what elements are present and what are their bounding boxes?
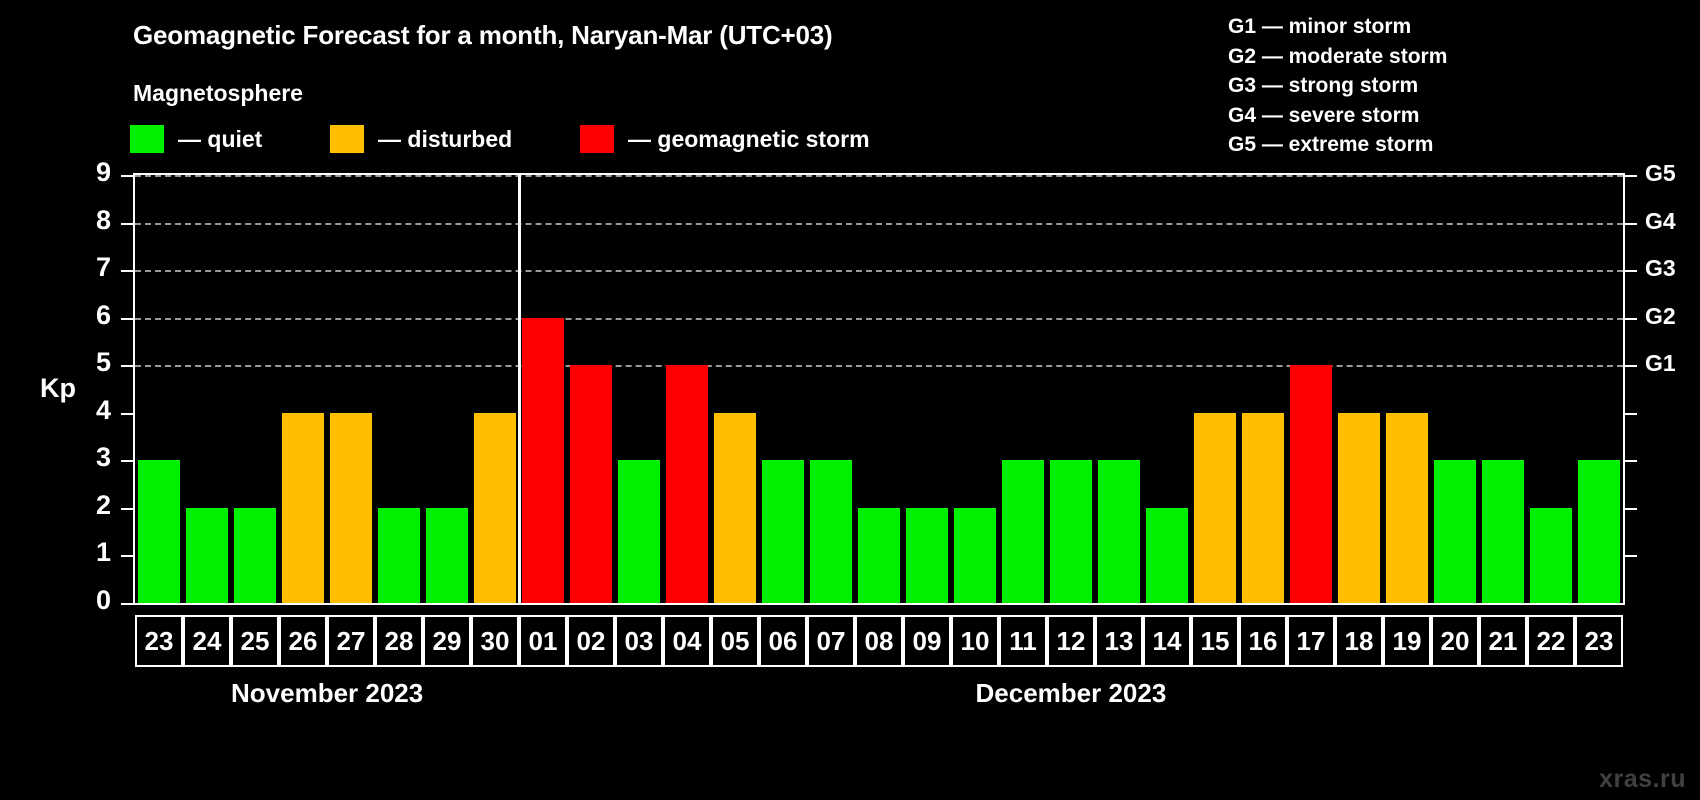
date-label: 13 [1095, 615, 1143, 667]
g-tick-G2 [1625, 318, 1637, 320]
g-tick-G1 [1625, 365, 1637, 367]
legend-label-quiet: — quiet [178, 128, 262, 151]
plot-area [133, 173, 1625, 605]
date-label: 25 [231, 615, 279, 667]
bar [1194, 413, 1235, 603]
g-axis-label-G4: G4 [1645, 208, 1700, 235]
y-tick-4 [121, 413, 133, 415]
bar [186, 508, 227, 603]
bar [378, 508, 419, 603]
legend-swatch-storm [580, 125, 614, 153]
magnetosphere-label: Magnetosphere [133, 80, 303, 107]
gscale-line-1: G1 — minor storm [1228, 12, 1447, 42]
date-label: 28 [375, 615, 423, 667]
date-label: 29 [423, 615, 471, 667]
bar [1146, 508, 1187, 603]
bar [1386, 413, 1427, 603]
date-label: 07 [807, 615, 855, 667]
legend-item-storm: — geomagnetic storm [580, 123, 870, 155]
bar [906, 508, 947, 603]
y-tick-8 [121, 223, 133, 225]
y-axis-tick-label-0: 0 [71, 585, 111, 616]
date-label: 24 [183, 615, 231, 667]
geomagnetic-forecast-chart: Geomagnetic Forecast for a month, Naryan… [0, 0, 1700, 800]
bar [618, 460, 659, 603]
bar [138, 460, 179, 603]
date-label: 11 [999, 615, 1047, 667]
g-minor-tick-kp-1 [1625, 555, 1637, 557]
date-label: 01 [519, 615, 567, 667]
g-axis-label-G1: G1 [1645, 350, 1700, 377]
legend-item-disturbed: — disturbed [330, 123, 512, 155]
date-label: 19 [1383, 615, 1431, 667]
bar [1002, 460, 1043, 603]
date-label: 02 [567, 615, 615, 667]
bar [282, 413, 323, 603]
g-tick-G3 [1625, 270, 1637, 272]
y-axis-tick-label-5: 5 [71, 347, 111, 378]
bar [714, 413, 755, 603]
bar [1242, 413, 1283, 603]
month-caption-1: November 2023 [231, 678, 423, 709]
bar [1482, 460, 1523, 603]
legend-swatch-quiet [130, 125, 164, 153]
bar [1578, 460, 1619, 603]
bar [762, 460, 803, 603]
gscale-line-3: G3 — strong storm [1228, 71, 1447, 101]
date-label: 08 [855, 615, 903, 667]
y-tick-6 [121, 318, 133, 320]
date-label: 16 [1239, 615, 1287, 667]
date-label: 22 [1527, 615, 1575, 667]
date-label: 03 [615, 615, 663, 667]
bar [474, 413, 515, 603]
y-tick-2 [121, 508, 133, 510]
date-label: 15 [1191, 615, 1239, 667]
date-label: 10 [951, 615, 999, 667]
y-axis-tick-label-2: 2 [71, 490, 111, 521]
y-axis-tick-label-4: 4 [71, 395, 111, 426]
bar [1434, 460, 1475, 603]
y-tick-9 [121, 175, 133, 177]
y-tick-1 [121, 555, 133, 557]
gscale-line-5: G5 — extreme storm [1228, 130, 1447, 160]
gscale-legend: G1 — minor stormG2 — moderate stormG3 — … [1228, 12, 1447, 160]
date-label: 05 [711, 615, 759, 667]
date-label: 12 [1047, 615, 1095, 667]
bar [1050, 460, 1091, 603]
bar [1530, 508, 1571, 603]
date-label: 26 [279, 615, 327, 667]
date-label: 20 [1431, 615, 1479, 667]
bars-layer [135, 175, 1623, 603]
bar [810, 460, 851, 603]
date-label: 14 [1143, 615, 1191, 667]
legend-swatch-disturbed [330, 125, 364, 153]
g-axis-label-G5: G5 [1645, 160, 1700, 187]
y-tick-3 [121, 460, 133, 462]
legend-label-storm: — geomagnetic storm [628, 128, 870, 151]
g-minor-tick-kp-4 [1625, 413, 1637, 415]
bar [570, 365, 611, 603]
bar [426, 508, 467, 603]
date-label: 04 [663, 615, 711, 667]
bar [858, 508, 899, 603]
date-label: 06 [759, 615, 807, 667]
bar [954, 508, 995, 603]
bar [1098, 460, 1139, 603]
month-caption-2: December 2023 [976, 678, 1167, 709]
g-axis-label-G3: G3 [1645, 255, 1700, 282]
bar [1290, 365, 1331, 603]
gscale-line-4: G4 — severe storm [1228, 101, 1447, 131]
g-minor-tick-kp-3 [1625, 460, 1637, 462]
y-tick-7 [121, 270, 133, 272]
page-title: Geomagnetic Forecast for a month, Naryan… [133, 20, 833, 51]
g-tick-G5 [1625, 175, 1637, 177]
date-label: 17 [1287, 615, 1335, 667]
bar [234, 508, 275, 603]
y-axis-tick-label-7: 7 [71, 252, 111, 283]
y-axis-tick-label-6: 6 [71, 300, 111, 331]
date-label: 18 [1335, 615, 1383, 667]
date-label: 27 [327, 615, 375, 667]
g-tick-G4 [1625, 223, 1637, 225]
date-label: 30 [471, 615, 519, 667]
date-axis: 2324252627282930010203040506070809101112… [133, 615, 1625, 667]
g-axis-label-G2: G2 [1645, 303, 1700, 330]
y-axis-tick-label-1: 1 [71, 537, 111, 568]
y-tick-5 [121, 365, 133, 367]
watermark: xras.ru [1599, 765, 1686, 794]
date-label: 09 [903, 615, 951, 667]
month-divider [518, 175, 521, 603]
legend-label-disturbed: — disturbed [378, 128, 512, 151]
date-label: 21 [1479, 615, 1527, 667]
y-axis-tick-label-3: 3 [71, 442, 111, 473]
bar [330, 413, 371, 603]
y-tick-0 [121, 603, 133, 605]
y-axis-tick-label-8: 8 [71, 205, 111, 236]
gscale-line-2: G2 — moderate storm [1228, 42, 1447, 72]
g-minor-tick-kp-2 [1625, 508, 1637, 510]
legend-item-quiet: — quiet [130, 123, 262, 155]
bar [666, 365, 707, 603]
bar [522, 318, 563, 603]
y-axis-tick-label-9: 9 [71, 157, 111, 188]
date-label: 23 [135, 615, 183, 667]
date-label: 23 [1575, 615, 1623, 667]
bar [1338, 413, 1379, 603]
